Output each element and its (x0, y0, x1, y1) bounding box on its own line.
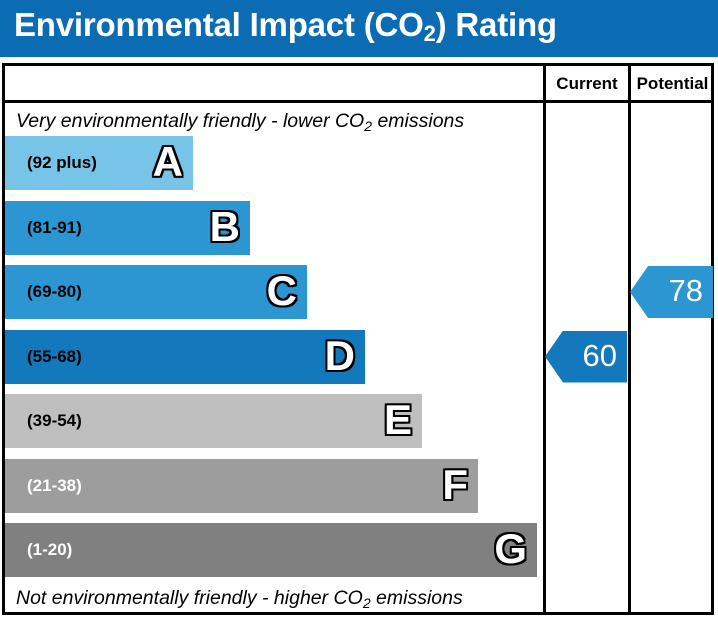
caption-bottom-subscript: 2 (363, 595, 371, 611)
page-title-suffix: ) Rating (436, 6, 557, 43)
rating-band-f: (21-38)F (5, 459, 478, 513)
column-header-potential: Potential (631, 70, 714, 98)
chart-title-bar: Environmental Impact (CO2) Rating (0, 0, 718, 57)
page-title-prefix: Environmental Impact (CO (14, 6, 424, 43)
caption-top-suffix: emissions (372, 110, 464, 132)
page-title-subscript: 2 (424, 21, 436, 46)
page-title: Environmental Impact (CO2) Rating (14, 6, 557, 44)
epc-environmental-impact-chart: Environmental Impact (CO2) Rating Curren… (0, 0, 718, 619)
current-rating-value: 60 (583, 331, 617, 383)
band-letter-c: C (267, 265, 297, 319)
caption-top-subscript: 2 (364, 118, 372, 134)
caption-top: Very environmentally friendly - lower CO… (16, 110, 464, 133)
band-letter-e: E (384, 394, 412, 448)
column-header-current: Current (546, 70, 628, 98)
band-letter-d: D (325, 330, 355, 384)
band-letter-f: F (442, 459, 468, 513)
rating-band-e: (39-54)E (5, 394, 422, 448)
column-divider-current (543, 63, 546, 615)
band-range-label-b: (81-91) (27, 201, 82, 255)
rating-band-b: (81-91)B (5, 201, 250, 255)
caption-bottom-prefix: Not environmentally friendly - higher CO (16, 587, 363, 609)
band-range-label-d: (55-68) (27, 330, 82, 384)
band-range-label-e: (39-54) (27, 394, 82, 448)
caption-bottom: Not environmentally friendly - higher CO… (16, 587, 463, 610)
header-row-divider (2, 100, 714, 103)
caption-top-prefix: Very environmentally friendly - lower CO (16, 110, 364, 132)
column-divider-potential (628, 63, 631, 615)
band-range-label-f: (21-38) (27, 459, 82, 513)
band-range-label-g: (1-20) (27, 523, 72, 577)
rating-band-d: (55-68)D (5, 330, 365, 384)
band-letter-b: B (210, 201, 240, 255)
band-range-label-a: (92 plus) (27, 136, 97, 190)
band-letter-a: A (153, 136, 183, 190)
rating-band-a: (92 plus)A (5, 136, 193, 190)
band-letter-g: G (494, 523, 527, 577)
rating-band-g: (1-20)G (5, 523, 537, 577)
rating-band-c: (69-80)C (5, 265, 307, 319)
band-range-label-c: (69-80) (27, 265, 82, 319)
potential-rating-value: 78 (669, 266, 703, 318)
caption-bottom-suffix: emissions (371, 587, 463, 609)
